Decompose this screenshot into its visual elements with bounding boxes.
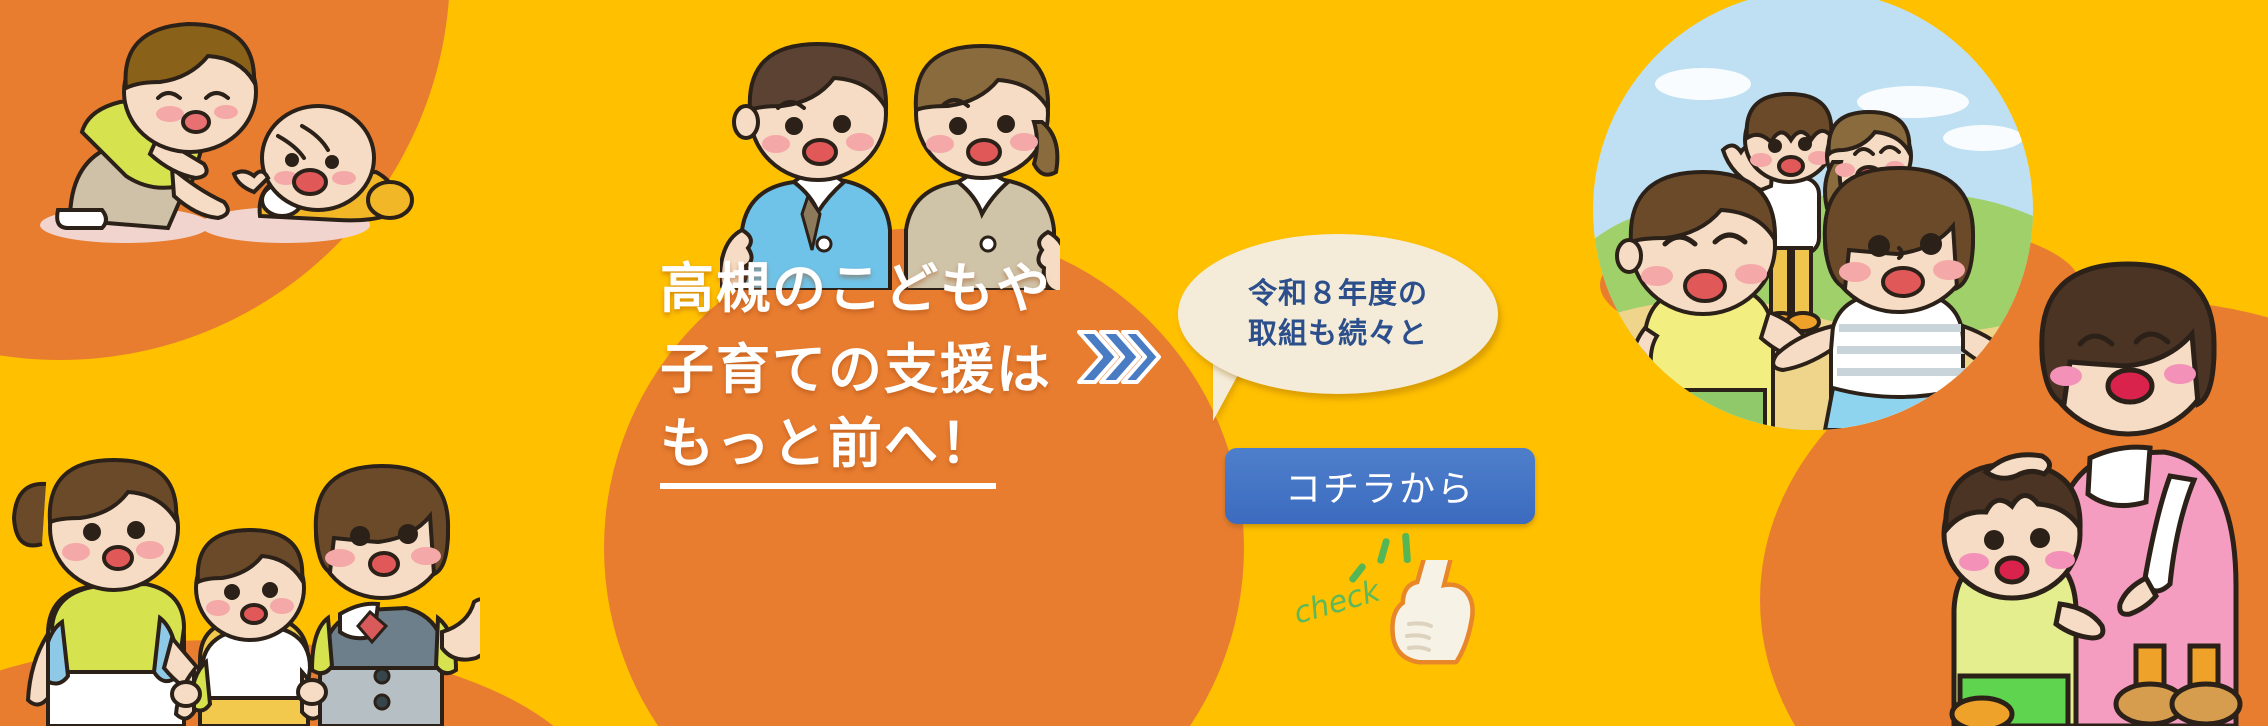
illustration-parent-and-crawling-baby — [30, 20, 430, 250]
speech-bubble: 令和８年度の 取組も続々と — [1178, 234, 1498, 394]
headline-line-1: 高槻のこどもや — [660, 252, 1220, 326]
illustration-three-children-holding-hands — [10, 410, 480, 726]
cta-button[interactable]: コチラから — [1225, 448, 1535, 524]
headline-line-3: もっと前へ！ — [660, 407, 996, 489]
headline-line-3-row: もっと前へ！ — [660, 407, 1220, 489]
banner-root: 高槻のこどもや 子育ての支援は もっと前へ！ 令和８年度の 取組も続々と — [0, 0, 2268, 726]
pointing-hand-icon — [1385, 560, 1475, 675]
headline: 高槻のこどもや 子育ての支援は もっと前へ！ — [660, 252, 1220, 489]
speech-bubble-text: 令和８年度の 取組も続々と — [1178, 234, 1498, 394]
double-chevron-right-icon — [1075, 326, 1161, 388]
illustration-mother-patting-child — [1940, 186, 2268, 726]
speech-bubble-line-2: 取組も続々と — [1248, 314, 1428, 354]
check-label: check — [1290, 574, 1384, 632]
illustration-smiling-couple — [720, 30, 1060, 290]
headline-line-2-row: 子育ての支援は — [660, 326, 1220, 407]
spark-line — [1402, 533, 1411, 563]
headline-line-2: 子育ての支援は — [660, 340, 1052, 400]
speech-bubble-line-1: 令和８年度の — [1248, 274, 1428, 314]
